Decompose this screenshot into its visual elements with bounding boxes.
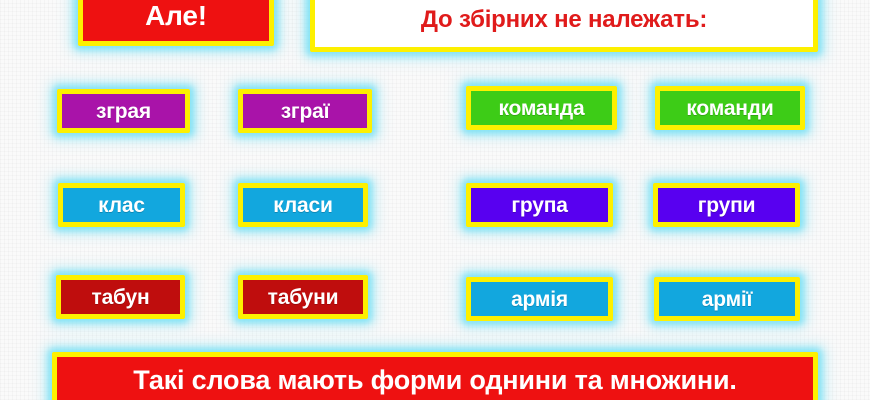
word-chip-klas: клас xyxy=(58,183,185,227)
word-label: зграя xyxy=(96,101,151,122)
word-label: клас xyxy=(98,195,145,216)
word-chip-tabun: табун xyxy=(56,275,185,319)
word-label: армія xyxy=(511,289,568,310)
word-label: команда xyxy=(498,98,584,119)
word-label: команди xyxy=(686,98,773,119)
word-chip-armiya: армія xyxy=(466,277,613,321)
word-chip-tabuny: табуни xyxy=(238,275,368,319)
word-label: група xyxy=(511,195,567,216)
word-chip-zgrai: зграї xyxy=(238,89,372,133)
header-title-label: До збірних не належать: xyxy=(421,8,707,32)
callout-ale: Але! xyxy=(78,0,274,46)
word-chip-zgraya: зграя xyxy=(57,89,190,133)
header-title-box: До збірних не належать: xyxy=(310,0,818,52)
word-label: зграї xyxy=(281,101,330,122)
word-chip-hrupa: група xyxy=(466,183,613,227)
word-label: табуни xyxy=(268,287,339,308)
word-label: табун xyxy=(91,287,149,308)
word-chip-hrupy: групи xyxy=(653,183,800,227)
word-chip-klasy: класи xyxy=(238,183,368,227)
word-label: класи xyxy=(273,195,332,216)
word-chip-komanda: команда xyxy=(466,86,617,130)
callout-ale-label: Але! xyxy=(145,2,207,30)
footer-banner: Такі слова мають форми однини та множини… xyxy=(52,352,818,400)
word-chip-armii: армії xyxy=(654,277,800,321)
word-label: групи xyxy=(698,195,756,216)
footer-banner-label: Такі слова мають форми однини та множини… xyxy=(133,367,736,394)
slide-canvas: Але! До збірних не належать: зграя зграї… xyxy=(0,0,870,400)
word-label: армії xyxy=(702,289,753,310)
word-chip-komandy: команди xyxy=(655,86,805,130)
